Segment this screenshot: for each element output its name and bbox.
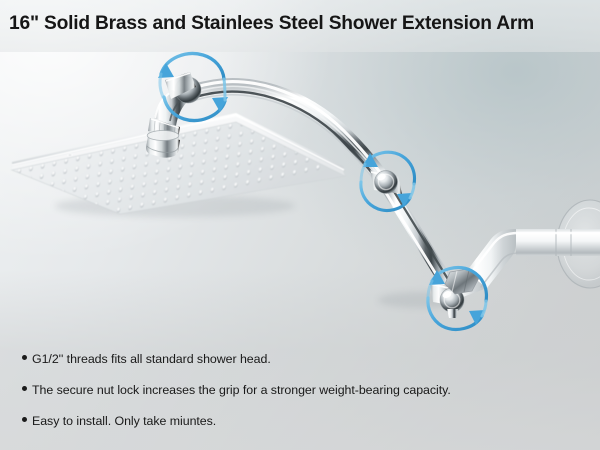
feature-text: The secure nut lock increases the grip f… — [32, 383, 451, 397]
bullet-dot-icon — [22, 355, 27, 360]
straight-arm — [383, 184, 457, 292]
head-mount-collar — [146, 131, 180, 158]
bullet-dot-icon — [22, 386, 27, 391]
feature-text: G1/2'' threads fits all standard shower … — [32, 352, 271, 366]
list-item: Easy to install. Only take miuntes. — [0, 414, 600, 445]
feature-list: G1/2'' threads fits all standard shower … — [0, 352, 600, 445]
middle-ball-joint — [370, 170, 402, 194]
list-item: The secure nut lock increases the grip f… — [0, 383, 600, 414]
list-item: G1/2'' threads fits all standard shower … — [0, 352, 600, 383]
bullet-dot-icon — [22, 417, 27, 422]
product-infographic: 16" Solid Brass and Stainlees Steel Show… — [0, 0, 600, 450]
feature-text: Easy to install. Only take miuntes. — [32, 414, 216, 428]
